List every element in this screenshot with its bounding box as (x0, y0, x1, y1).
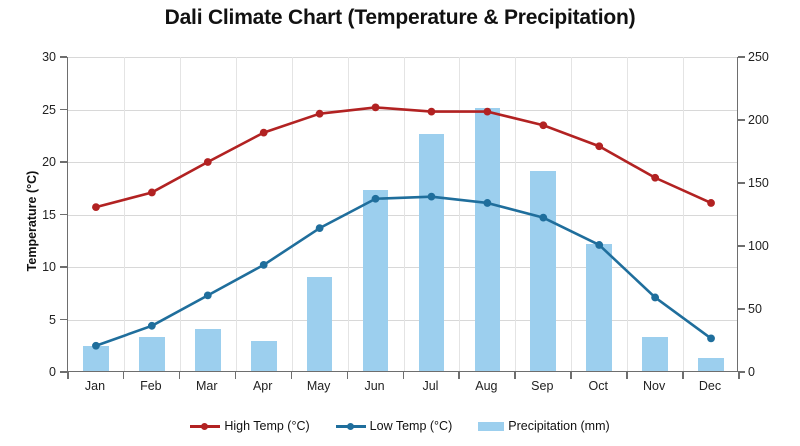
low-temp-marker (204, 291, 212, 299)
low-temp-marker (483, 199, 491, 207)
y-axis-left-tick-mark (60, 56, 67, 58)
legend-label: Precipitation (mm) (508, 419, 609, 433)
high-temp-marker (316, 110, 324, 118)
x-axis-tick-label: Mar (179, 379, 235, 393)
x-axis-tick-label: Jun (347, 379, 403, 393)
x-axis-tick-mark (514, 372, 516, 379)
x-axis-tick-mark (682, 372, 684, 379)
y-axis-right-tick-label: 200 (748, 113, 788, 127)
high-temp-marker (428, 108, 436, 116)
x-axis-tick-mark (347, 372, 349, 379)
y-axis-right-tick-mark (738, 119, 745, 121)
legend-label: High Temp (°C) (224, 419, 309, 433)
x-axis-tick-label: Feb (123, 379, 179, 393)
x-axis-tick-mark (123, 372, 125, 379)
high-temp-marker (372, 104, 380, 112)
x-axis-tick-mark (179, 372, 181, 379)
low-temp-marker (539, 214, 547, 222)
x-axis-tick-label: Dec (682, 379, 738, 393)
high-temp-marker (260, 129, 268, 137)
high-temp-marker (204, 158, 212, 166)
x-axis-tick-label: May (291, 379, 347, 393)
gridline (68, 372, 737, 373)
high-temp-marker (595, 142, 603, 150)
y-axis-left-tick-mark (60, 214, 67, 216)
temperature-series (68, 57, 739, 372)
chart-title: Dali Climate Chart (Temperature & Precip… (0, 6, 800, 30)
legend-line-marker-icon (190, 420, 220, 432)
x-axis-tick-label: Apr (235, 379, 291, 393)
low-temp-marker (595, 241, 603, 249)
y-axis-left-tick-label: 0 (10, 365, 56, 379)
x-axis-tick-label: Oct (570, 379, 626, 393)
x-axis-tick-mark (738, 372, 740, 379)
high-temp-line (96, 107, 711, 207)
y-axis-left-tick-label: 5 (10, 313, 56, 327)
x-axis-tick-label: Nov (626, 379, 682, 393)
climate-chart-figure: Dali Climate Chart (Temperature & Precip… (0, 0, 800, 446)
x-axis-tick-mark (403, 372, 405, 379)
x-axis-tick-label: Jul (402, 379, 458, 393)
y-axis-right-tick-mark (738, 182, 745, 184)
y-axis-left-tick-mark (60, 371, 67, 373)
high-temp-marker (483, 108, 491, 116)
low-temp-marker (707, 335, 715, 343)
high-temp-marker (539, 121, 547, 129)
legend-item[interactable]: High Temp (°C) (190, 419, 309, 433)
x-axis-tick-label: Aug (458, 379, 514, 393)
y-axis-right-tick-label: 0 (748, 365, 788, 379)
x-axis-tick-mark (67, 372, 69, 379)
legend-line-marker-icon (336, 420, 366, 432)
low-temp-marker (148, 322, 156, 330)
legend-item[interactable]: Precipitation (mm) (478, 419, 609, 433)
x-axis-tick-mark (291, 372, 293, 379)
low-temp-marker (428, 193, 436, 201)
legend-item[interactable]: Low Temp (°C) (336, 419, 453, 433)
y-axis-left-tick-mark (60, 109, 67, 111)
y-axis-right-tick-label: 250 (748, 50, 788, 64)
x-axis-tick-label: Jan (67, 379, 123, 393)
legend-label: Low Temp (°C) (370, 419, 453, 433)
low-temp-marker (316, 224, 324, 232)
y-axis-right-tick-label: 50 (748, 302, 788, 316)
high-temp-marker (707, 199, 715, 207)
x-axis-tick-label: Sep (514, 379, 570, 393)
y-axis-left-tick-label: 30 (10, 50, 56, 64)
y-axis-left-tick-mark (60, 266, 67, 268)
y-axis-left-tick-label: 15 (10, 208, 56, 222)
y-axis-left-tick-label: 20 (10, 155, 56, 169)
y-axis-right-tick-label: 100 (748, 239, 788, 253)
legend-bar-swatch-icon (478, 422, 504, 431)
high-temp-marker (148, 189, 156, 197)
low-temp-marker (372, 195, 380, 203)
plot-area (67, 57, 738, 372)
low-temp-marker (92, 342, 100, 350)
y-axis-right-tick-mark (738, 245, 745, 247)
x-axis-tick-mark (570, 372, 572, 379)
y-axis-left-tick-label: 10 (10, 260, 56, 274)
high-temp-marker (651, 174, 659, 182)
y-axis-right-tick-mark (738, 56, 745, 58)
y-axis-right-tick-label: 150 (748, 176, 788, 190)
low-temp-marker (651, 294, 659, 302)
chart-legend: High Temp (°C)Low Temp (°C)Precipitation… (0, 419, 800, 433)
low-temp-marker (260, 261, 268, 269)
y-axis-left-tick-mark (60, 161, 67, 163)
low-temp-line (96, 197, 711, 346)
x-axis-tick-mark (626, 372, 628, 379)
y-axis-left-tick-label: 25 (10, 103, 56, 117)
y-axis-right-tick-mark (738, 308, 745, 310)
y-axis-left-tick-mark (60, 319, 67, 321)
x-axis-tick-mark (235, 372, 237, 379)
high-temp-marker (92, 203, 100, 211)
x-axis-tick-mark (458, 372, 460, 379)
